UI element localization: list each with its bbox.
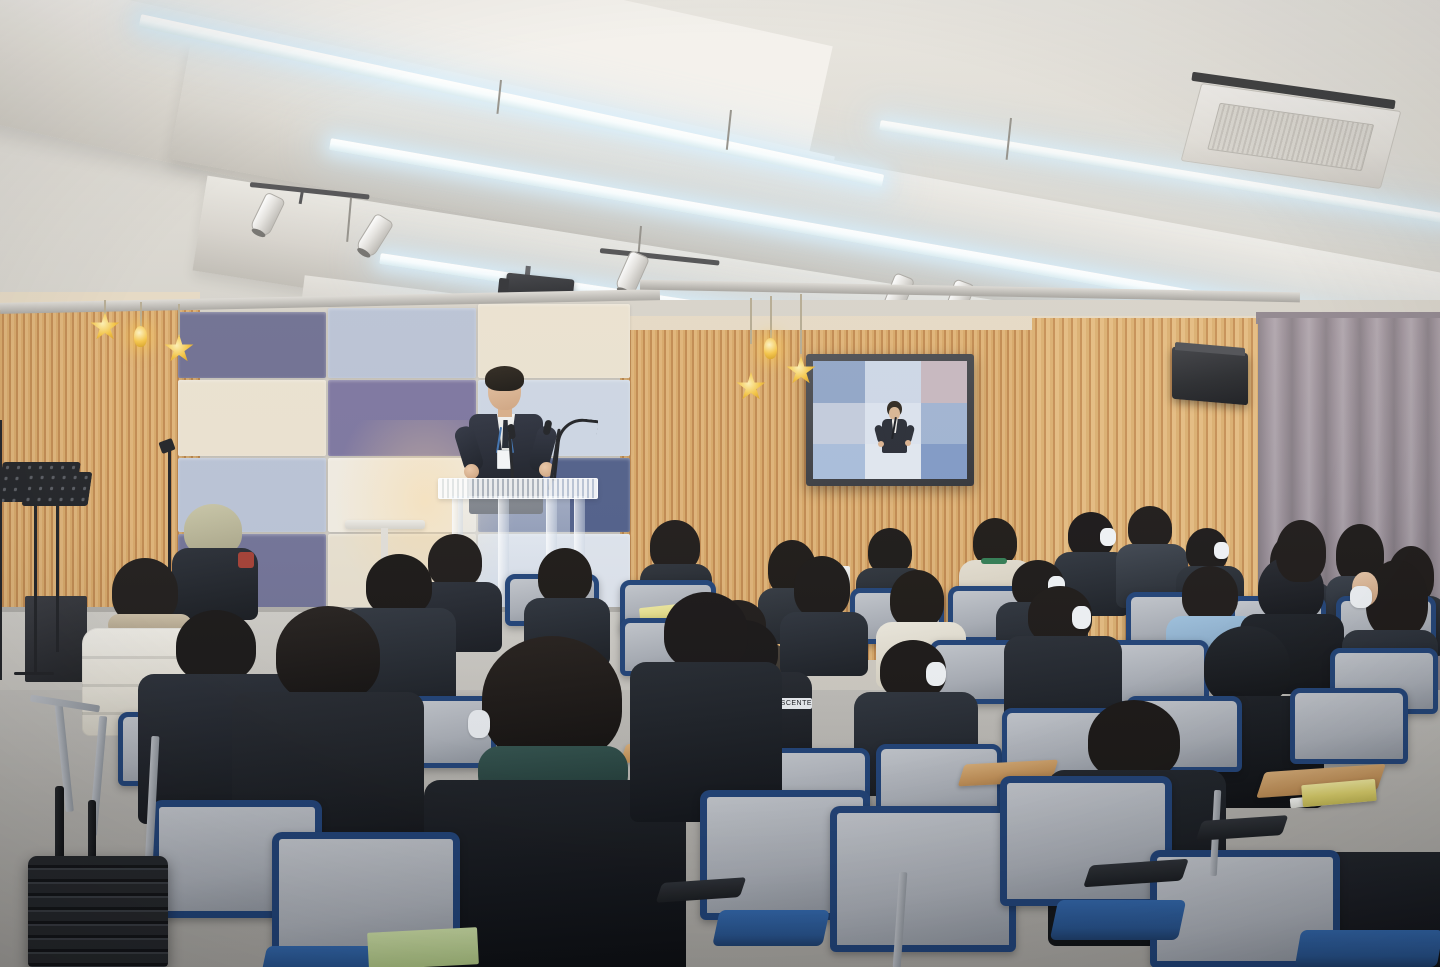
lecture-hall-photo: DESCENTE [0,0,1440,967]
screen-panel [865,361,920,403]
pendant-cord [750,298,752,344]
audience-member [1270,520,1334,600]
music-stand-pole [34,500,37,675]
pendant-cord [178,304,180,336]
screen-content [813,361,967,479]
suitcase-handle [55,786,64,860]
screen-panel [813,444,865,479]
pendant-bulb [134,326,147,347]
face-mask [1100,528,1116,546]
acoustic-panel [328,308,476,378]
seat-cushion [261,946,379,967]
seat-cushion [1295,930,1440,967]
face-mask [1214,542,1229,559]
presenter-left-hand [464,464,479,479]
rolling-suitcase [28,856,168,967]
screen-panel [813,361,865,403]
pendant-cord [800,294,802,354]
green-handout [367,927,479,967]
podium-top [438,478,598,499]
audience-member [640,592,770,802]
microphone-stand-pole [0,420,2,680]
screen-panel [921,361,967,403]
display-screen [806,354,974,486]
screen-panel [921,444,967,479]
music-stand-pole [56,504,59,652]
screen-panel [921,403,967,443]
face-mask [468,710,490,738]
face-mask [1072,606,1091,629]
acoustic-panel [328,380,476,456]
pendant-cord [770,296,772,340]
screen-panel [813,403,865,443]
pendant-cord [140,302,142,328]
music-stand-foot [14,672,54,675]
face-mask [926,662,946,686]
presenter-hair [485,366,524,391]
suitcase-handle [88,800,96,860]
face-mask [1350,586,1372,608]
music-stand-plate [22,472,93,506]
seat-cushion [1050,900,1187,940]
coat-patch [238,552,254,568]
seat-cushion [712,910,830,946]
acoustic-panel [178,380,326,456]
wall-speaker-right [1172,347,1248,406]
pendant-bulb [764,338,777,359]
screen-speaker-figure [878,401,912,459]
acoustic-panel [178,312,326,378]
